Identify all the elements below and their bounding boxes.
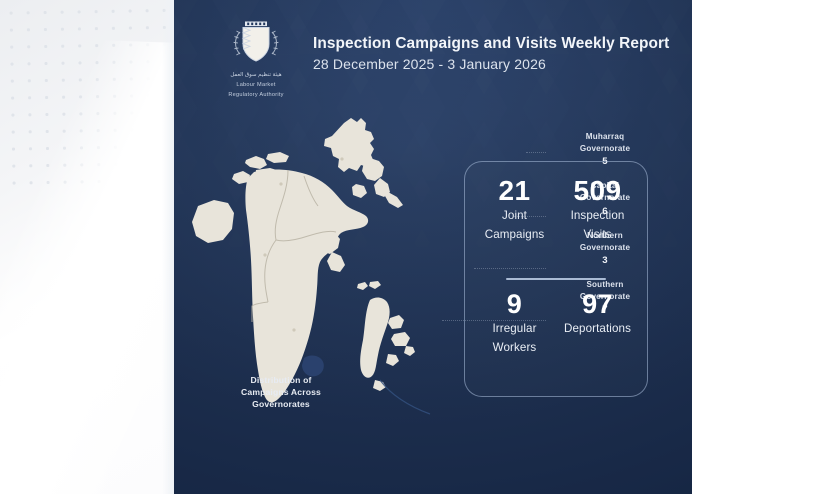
poster-header: هيئة تنظيم سوق العمل Labour Market Regul… [174,0,692,112]
map-caption-line3: Governorates [252,399,310,409]
lmra-logo: هيئة تنظيم سوق العمل Labour Market Regul… [210,18,302,100]
stat-irregular-workers-value: 9 [475,290,554,318]
diagonal-sheen [0,35,174,494]
decorative-right-margin [692,0,823,494]
stats-row-top: 21 Joint Campaigns 509 Inspection Visits [473,176,639,272]
stat-deportations-value: 97 [558,290,637,318]
stats-divider [506,278,606,280]
stat-inspection-visits: 509 Inspection Visits [556,176,639,272]
governorate-muharraq-name-line1: Muharraq [549,131,661,143]
stat-joint-campaigns-value: 21 [475,176,554,205]
summary-stats-card: 21 Joint Campaigns 509 Inspection Visits… [464,161,648,397]
logo-arabic-name: هيئة تنظيم سوق العمل [210,72,302,79]
stat-deportations: 97 Deportations [556,290,639,337]
bahrain-shield-emblem-icon [210,18,302,69]
report-date-range: 28 December 2025 - 3 January 2026 [313,56,685,74]
edge-fade [162,0,174,494]
leader-line-muharraq [526,152,546,153]
report-poster: هيئة تنظيم سوق العمل Labour Market Regul… [174,0,692,494]
map-caption: Distribution of Campaigns Across Governo… [221,374,341,411]
stat-inspection-visits-label-line1: Inspection [558,209,637,223]
header-titles: Inspection Campaigns and Visits Weekly R… [313,34,685,74]
stat-irregular-workers-label-line1: Irregular [475,322,554,336]
governorate-muharraq-name-line2: Governorate [549,143,661,155]
logo-english-line2: Regulatory Authority [210,91,302,99]
stat-deportations-label-line1: Deportations [558,322,637,336]
stat-joint-campaigns-label-line2: Campaigns [475,228,554,242]
stats-row-bottom: 9 Irregular Workers 97 Deportations [473,290,639,386]
stat-inspection-visits-value: 509 [558,176,637,205]
stat-irregular-workers: 9 Irregular Workers [473,290,556,355]
stat-inspection-visits-label-line2: Visits [558,228,637,242]
map-caption-line2: Campaigns Across [241,387,321,397]
bahrain-map: Distribution of Campaigns Across Governo… [184,112,464,442]
map-caption-line1: Distribution of [251,375,312,385]
stat-irregular-workers-label-line2: Workers [475,341,554,355]
logo-english-line1: Labour Market [210,81,302,89]
page-root: هيئة تنظيم سوق العمل Labour Market Regul… [0,0,823,494]
stat-joint-campaigns-label-line1: Joint [475,209,554,223]
stat-joint-campaigns: 21 Joint Campaigns [473,176,556,272]
report-title: Inspection Campaigns and Visits Weekly R… [313,34,685,53]
decorative-left-margin [0,0,174,494]
